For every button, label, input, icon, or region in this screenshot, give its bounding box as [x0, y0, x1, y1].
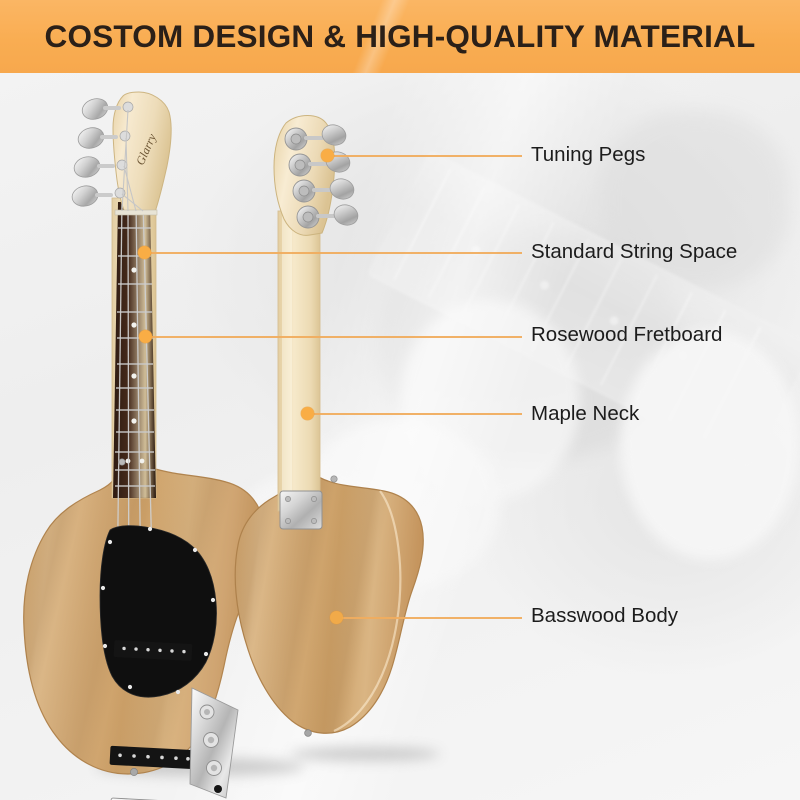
- leader-line-rosewood-fretboard: [151, 336, 522, 338]
- leader-dot-standard-string-space: [138, 246, 151, 259]
- callout-label-maple-neck: Maple Neck: [531, 402, 639, 426]
- callout-label-standard-string-space: Standard String Space: [531, 240, 737, 264]
- right-guitar-back-view: [230, 95, 450, 775]
- right-guitar-strap-button-bottom: [305, 730, 312, 737]
- leader-line-standard-string-space: [150, 252, 522, 254]
- left-guitar-tuning-pegs: [70, 95, 121, 208]
- leader-dot-tuning-pegs: [321, 149, 334, 162]
- leader-line-maple-neck: [313, 413, 522, 415]
- leader-dot-rosewood-fretboard: [139, 330, 152, 343]
- leader-line-basswood-body: [342, 617, 522, 619]
- left-guitar-output-jack: [214, 785, 222, 793]
- right-guitar-headstock-back: [248, 95, 408, 265]
- leader-line-tuning-pegs: [333, 155, 522, 157]
- right-guitar-strap-button-top: [331, 476, 337, 482]
- left-guitar-strap-button-bottom: [130, 768, 137, 775]
- callout-label-rosewood-fretboard: Rosewood Fretboard: [531, 323, 722, 347]
- left-guitar-strap-button-top: [119, 459, 125, 465]
- page-title: COSTOM DESIGN & HIGH-QUALITY MATERIAL: [45, 18, 756, 55]
- leader-dot-basswood-body: [330, 611, 343, 624]
- infographic-canvas: Glarry: [0, 0, 800, 800]
- left-guitar-headstock: Glarry: [55, 80, 215, 260]
- callout-label-basswood-body: Basswood Body: [531, 604, 678, 628]
- header-banner: COSTOM DESIGN & HIGH-QUALITY MATERIAL: [0, 0, 800, 73]
- leader-dot-maple-neck: [301, 407, 314, 420]
- callout-label-tuning-pegs: Tuning Pegs: [531, 143, 645, 167]
